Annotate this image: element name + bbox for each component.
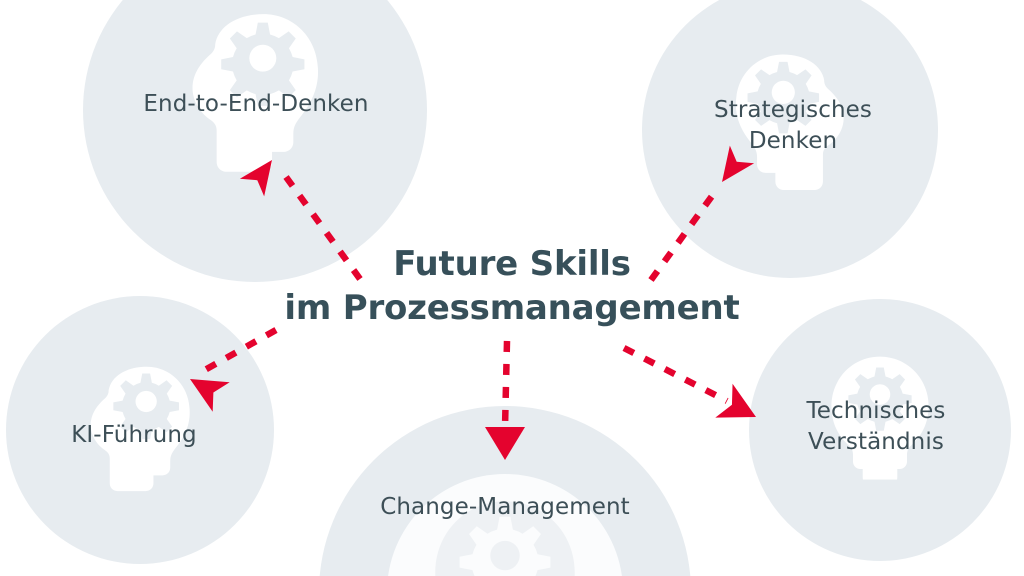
arrow-to-change-management [485, 341, 525, 460]
arrow-head-icon [715, 384, 764, 434]
arrow-head-icon [240, 151, 284, 196]
arrow-to-ki-fuehrung [182, 330, 277, 412]
arrow-dashed-line [624, 348, 727, 401]
center-title: Future Skills im Prozessmanagement [0, 243, 1024, 330]
arrow-to-technisches-verstaendnis [624, 348, 765, 434]
arrow-head-icon [182, 364, 230, 411]
center-title-line2: im Prozessmanagement [0, 287, 1024, 331]
arrow-dashed-line [203, 330, 276, 371]
arrow-dashed-line [505, 341, 507, 428]
center-title-line1: Future Skills [393, 244, 631, 284]
arrow-head-icon [485, 427, 525, 460]
diagram-canvas: End-to-End-Denken Strategisches Denken K… [0, 0, 1024, 576]
arrow-head-icon [710, 146, 754, 191]
